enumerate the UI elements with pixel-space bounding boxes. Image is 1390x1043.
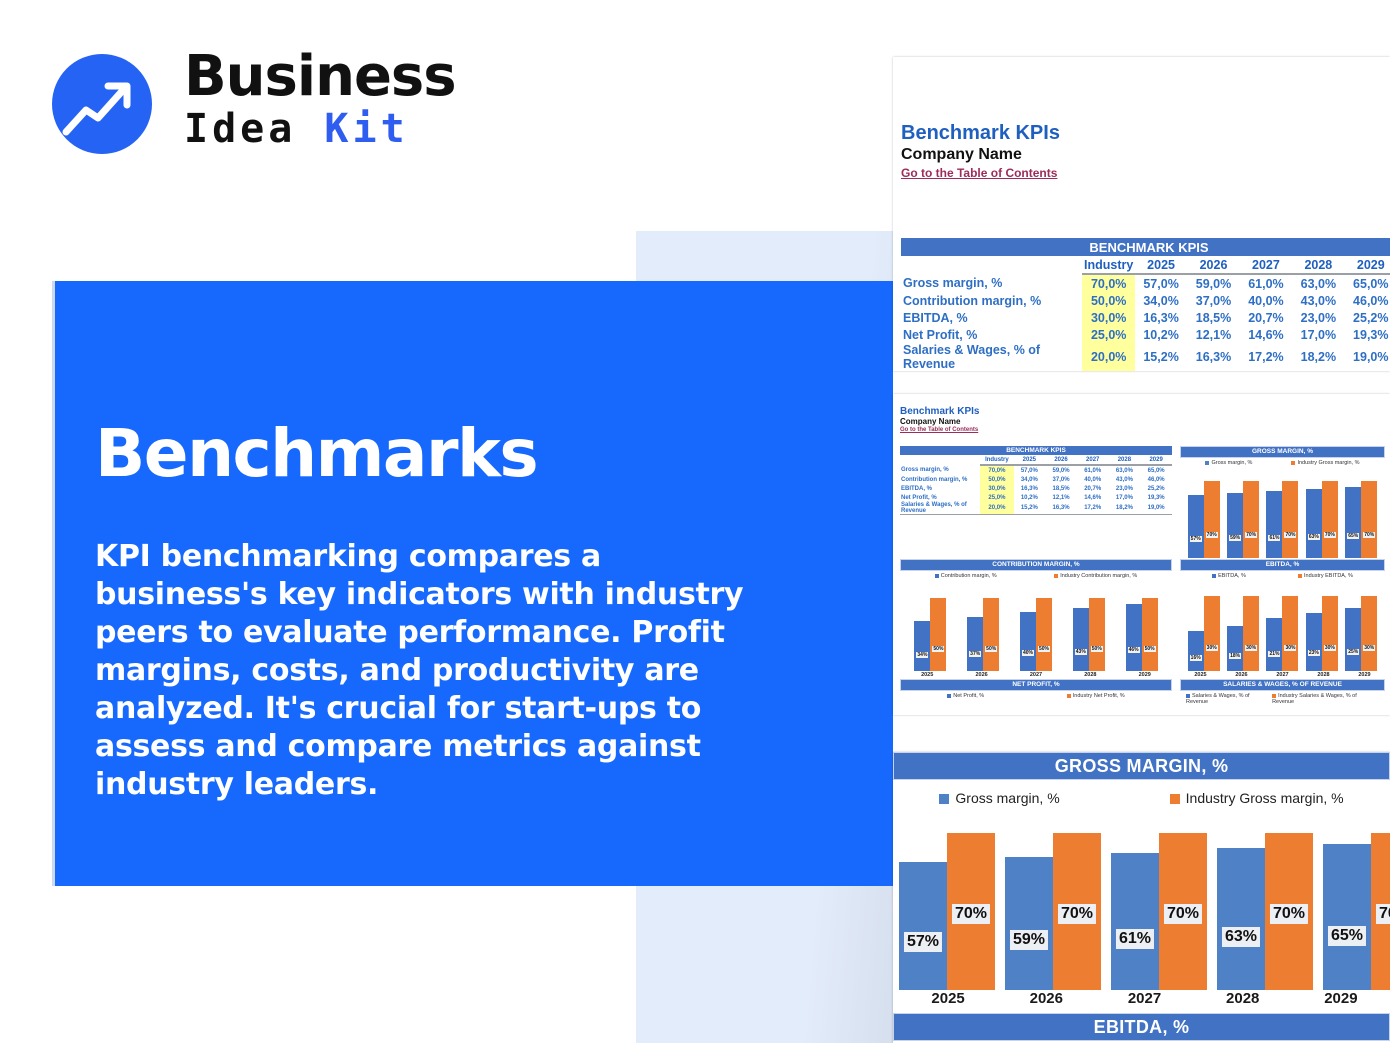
mini-chart-plot: 57%70%59%70%61%70%63%70%65%70% (1180, 466, 1385, 558)
mini-bar-group: 23%30% (1304, 583, 1339, 671)
bar-group: 65%70% (1323, 810, 1390, 990)
mini-bar-value-label: 50% (1144, 646, 1156, 652)
mini-bar-value-label: 30% (1363, 645, 1375, 651)
mini-legend-swatch (1205, 461, 1209, 465)
mini-bar-value-label: 34% (916, 652, 928, 658)
mini-bar: 18% (1227, 626, 1243, 671)
mini-chart-legend: Contribution margin, %Industry Contribut… (900, 571, 1172, 579)
mini-legend-swatch (1067, 694, 1071, 698)
mini-bar-value-label: 23% (1308, 650, 1320, 656)
mini-bar-group: 18%30% (1225, 583, 1260, 671)
chart-title-gross-margin: GROSS MARGIN, % (893, 752, 1390, 780)
mini-axis-tick: 2027 (1012, 672, 1061, 678)
mini-legend-label: Industry EBITDA, % (1304, 573, 1353, 579)
kpi-year-value: 40,0% (1240, 292, 1292, 309)
kpi-year-value: 61,0% (1240, 274, 1292, 292)
bar-value-label: 70% (1058, 904, 1096, 924)
mini-bar-value-label: 70% (1324, 532, 1336, 538)
kpi-year-value: 46,0% (1140, 475, 1172, 484)
kpi-year-value: 18,2% (1292, 343, 1344, 371)
kpi-year-value: 15,2% (1135, 343, 1187, 371)
axis-tick-label: 2028 (1194, 990, 1292, 1007)
mini-axis-tick: 2025 (903, 672, 952, 678)
mini-legend-label: Industry Gross margin, % (1297, 460, 1359, 466)
mini-legend-label: Industry Contribution margin, % (1060, 573, 1137, 579)
bar: 70% (1265, 833, 1313, 991)
mini-chart-legend: Net Profit, %Industry Net Profit, % (900, 691, 1172, 699)
kpi-industry-value: 25,0% (980, 493, 1013, 502)
mini-bar-value-label: 30% (1206, 645, 1218, 651)
kpi-row-label: Net Profit, % (901, 326, 1082, 343)
mini-bar: 57% (1188, 495, 1204, 558)
mini-legend-swatch (1272, 694, 1276, 698)
kpi-year-value: 25,2% (1345, 309, 1390, 326)
mini-bar: 37% (967, 617, 983, 671)
kpi-year-value: 16,3% (1045, 502, 1077, 515)
mini-legend-swatch (935, 574, 939, 578)
kpi-banner: BENCHMARK KPIS (901, 238, 1390, 256)
mini-bar: 70% (1204, 481, 1220, 558)
kpi-header-cell: Industry (1082, 256, 1134, 274)
spreadsheet-card-mini-dashboard: Benchmark KPIs Company Name Go to the Ta… (893, 394, 1390, 715)
kpi-row-label: Salaries & Wages, % of Revenue (901, 343, 1082, 371)
mini-chart-net-profit: NET PROFIT, %Net Profit, %Industry Net P… (900, 679, 1172, 699)
kpi-year-value: 65,0% (1345, 274, 1390, 292)
kpi-year-value: 20,7% (1240, 309, 1292, 326)
mini-bar: 30% (1282, 596, 1298, 671)
kpi-year-value: 34,0% (1014, 475, 1046, 484)
kpi-year-value: 19,0% (1345, 343, 1390, 371)
kpi-year-value: 14,6% (1077, 493, 1109, 502)
mini-bar: 50% (1036, 598, 1052, 671)
kpi-year-value: 23,0% (1292, 309, 1344, 326)
mini-legend-item: Industry EBITDA, % (1298, 573, 1353, 579)
kpi-row-label: Gross margin, % (900, 465, 980, 475)
kpi-industry-value: 25,0% (1082, 326, 1134, 343)
mini-bar-group: 16%30% (1186, 583, 1221, 671)
mini-bar-value-label: 57% (1190, 536, 1202, 542)
mini-bar-value-label: 46% (1128, 647, 1140, 653)
kpi-year-value: 40,0% (1077, 475, 1109, 484)
spreadsheet-card-kpi-table: Benchmark KPIs Company Name Go to the Ta… (893, 57, 1390, 371)
mini-axis-tick: 2029 (1120, 672, 1169, 678)
kpi-industry-value: 30,0% (1082, 309, 1134, 326)
mini-legend-label: Industry Net Profit, % (1073, 693, 1125, 699)
mini-axis-tick: 2027 (1264, 672, 1301, 678)
mini-chart-contribution-margin: CONTRIBUTION MARGIN, %Contribution margi… (900, 559, 1172, 678)
mini-bar-group: 63%70% (1304, 470, 1339, 558)
kpi-banner: BENCHMARK KPIS (900, 446, 1172, 455)
bar-group: 61%70% (1111, 810, 1207, 990)
bar-group: 63%70% (1217, 810, 1313, 990)
bar-value-label: 59% (1010, 930, 1048, 950)
kpi-header-cell: 2027 (1240, 256, 1292, 274)
mini-bar-group: 43%50% (1065, 583, 1113, 671)
mini-kpi-table-body: BENCHMARK KPISIndustry202520262027202820… (900, 446, 1172, 515)
mini-bar-value-label: 43% (1075, 649, 1087, 655)
mini-bar: 50% (983, 598, 999, 671)
kpi-year-value: 16,3% (1014, 484, 1046, 493)
mini-bar: 70% (1322, 481, 1338, 558)
kpi-year-value: 16,3% (1187, 343, 1239, 371)
mini-bar: 30% (1361, 596, 1377, 671)
logo-text-business: Business (184, 46, 456, 108)
kpi-header-cell (900, 455, 980, 465)
axis-tick-label: 2029 (1292, 990, 1390, 1007)
mini-bar-value-label: 61% (1268, 535, 1280, 541)
bar: 70% (1053, 833, 1101, 991)
mini-bar-value-label: 59% (1229, 535, 1241, 541)
kpi-row-label: Contribution margin, % (900, 475, 980, 484)
table-row: EBITDA, %30,0%16,3%18,5%20,7%23,0%25,2% (900, 484, 1172, 493)
mini-legend-item: Industry Net Profit, % (1067, 693, 1125, 699)
mini-sheet-title: Benchmark KPIs (900, 406, 979, 417)
mini-legend-item: Salaries & Wages, % of Revenue (1186, 693, 1272, 705)
mini-bar: 30% (1204, 596, 1220, 671)
kpi-row-label: Contribution margin, % (901, 292, 1082, 309)
growth-arrow-icon (52, 54, 152, 154)
bar-value-label: 65% (1328, 926, 1366, 946)
kpi-year-value: 10,2% (1014, 493, 1046, 502)
mini-chart-plot: 16%30%18%30%21%30%23%30%25%30% (1180, 579, 1385, 671)
kpi-year-value: 34,0% (1135, 292, 1187, 309)
mini-bar: 16% (1188, 631, 1204, 671)
mini-legend-swatch (947, 694, 951, 698)
kpi-row-label: Net Profit, % (900, 493, 980, 502)
kpi-year-value: 46,0% (1345, 292, 1390, 309)
mini-bar-value-label: 50% (932, 646, 944, 652)
mini-bar-group: 34%50% (907, 583, 955, 671)
mini-bar-value-label: 50% (985, 646, 997, 652)
legend-item-series2: Industry Gross margin, % (1170, 790, 1344, 806)
mini-bar-group: 46%50% (1118, 583, 1166, 671)
mini-chart-title: NET PROFIT, % (900, 679, 1172, 691)
kpi-header-cell: Industry (980, 455, 1013, 465)
mini-legend-item: EBITDA, % (1212, 573, 1246, 579)
mini-axis-tick: 2026 (1223, 672, 1260, 678)
kpi-industry-value: 50,0% (980, 475, 1013, 484)
kpi-industry-value: 70,0% (980, 465, 1013, 475)
kpi-header-cell: 2028 (1109, 455, 1141, 465)
kpi-header-cell: 2025 (1014, 455, 1046, 465)
kpi-year-value: 23,0% (1109, 484, 1141, 493)
legend-item-series1: Gross margin, % (939, 790, 1059, 806)
legend-swatch-series2 (1170, 794, 1180, 804)
bar-value-label: 61% (1116, 929, 1154, 949)
mini-legend-item: Net Profit, % (947, 693, 984, 699)
bar-value-label: 70% (952, 904, 990, 924)
mini-bar: 21% (1266, 618, 1282, 671)
mini-legend-item: Industry Contribution margin, % (1054, 573, 1137, 579)
bar-value-label: 70% (1376, 904, 1390, 924)
mini-chart-title: CONTRIBUTION MARGIN, % (900, 559, 1172, 571)
table-row: Salaries & Wages, % of Revenue20,0%15,2%… (901, 343, 1390, 371)
kpi-year-value: 20,7% (1077, 484, 1109, 493)
table-row: Salaries & Wages, % of Revenue20,0%15,2%… (900, 502, 1172, 515)
kpi-year-value: 18,5% (1045, 484, 1077, 493)
mini-bar: 34% (914, 621, 930, 671)
kpi-year-value: 14,6% (1240, 326, 1292, 343)
kpi-row-label: Gross margin, % (901, 274, 1082, 292)
kpi-header-cell: 2029 (1345, 256, 1390, 274)
mini-legend-swatch (1186, 694, 1190, 698)
mini-bar: 30% (1322, 596, 1338, 671)
bar-group: 57%70% (899, 810, 995, 990)
kpi-year-value: 18,5% (1187, 309, 1239, 326)
kpi-industry-value: 70,0% (1082, 274, 1134, 292)
mini-bar: 70% (1243, 481, 1259, 558)
kpi-row-label: Salaries & Wages, % of Revenue (900, 502, 980, 515)
mini-chart-plot: 34%50%37%50%40%50%43%50%46%50% (900, 579, 1172, 671)
mini-legend-swatch (1298, 574, 1302, 578)
kpi-year-value: 37,0% (1187, 292, 1239, 309)
mini-bar: 65% (1345, 487, 1361, 559)
kpi-year-value: 17,0% (1292, 326, 1344, 343)
mini-chart-title: GROSS MARGIN, % (1180, 446, 1385, 458)
kpi-year-value: 43,0% (1109, 475, 1141, 484)
mini-legend-label: Contribution margin, % (941, 573, 997, 579)
mini-chart-title: SALARIES & WAGES, % OF REVENUE (1180, 679, 1385, 691)
kpi-row-label: EBITDA, % (900, 484, 980, 493)
chart-title-ebitda-bottom: EBITDA, % (893, 1013, 1390, 1041)
kpi-industry-value: 20,0% (1082, 343, 1134, 371)
kpi-header-row: Industry20252026202720282029 (901, 256, 1390, 274)
mini-sheet-header: Benchmark KPIs Company Name Go to the Ta… (900, 406, 979, 434)
mini-legend-swatch (1291, 461, 1295, 465)
kpi-industry-value: 20,0% (980, 502, 1013, 515)
mini-legend-label: Gross margin, % (1211, 460, 1252, 466)
kpi-year-value: 16,3% (1135, 309, 1187, 326)
mini-bar: 40% (1020, 612, 1036, 671)
kpi-year-value: 12,1% (1045, 493, 1077, 502)
mini-bar: 23% (1306, 613, 1322, 671)
table-row: EBITDA, %30,0%16,3%18,5%20,7%23,0%25,2% (901, 309, 1390, 326)
mini-legend-item: Gross margin, % (1205, 460, 1252, 466)
legend-label-series1: Gross margin, % (955, 790, 1059, 806)
bar-value-label: 70% (1270, 904, 1308, 924)
bar: 70% (1159, 833, 1207, 991)
kpi-header-cell: 2027 (1077, 455, 1109, 465)
axis-tick-label: 2025 (899, 990, 997, 1007)
bar-value-label: 57% (904, 932, 942, 952)
mini-bar-group: 40%50% (1012, 583, 1060, 671)
mini-kpi-table: BENCHMARK KPISIndustry202520262027202820… (900, 446, 1172, 515)
bar: 61% (1111, 853, 1159, 990)
table-row: Net Profit, %25,0%10,2%12,1%14,6%17,0%19… (901, 326, 1390, 343)
mini-bar: 50% (930, 598, 946, 671)
table-row: Net Profit, %25,0%10,2%12,1%14,6%17,0%19… (900, 493, 1172, 502)
kpi-year-value: 17,0% (1109, 493, 1141, 502)
kpi-header-cell (901, 256, 1082, 274)
kpi-year-value: 37,0% (1045, 475, 1077, 484)
kpi-year-value: 19,0% (1140, 502, 1172, 515)
sheet-title: Benchmark KPIs (901, 122, 1390, 144)
mini-bar-value-label: 50% (1091, 646, 1103, 652)
kpi-header-cell: 2025 (1135, 256, 1187, 274)
mini-bar-value-label: 30% (1324, 645, 1336, 651)
mini-chart-x-axis: 20252026202720282029 (900, 671, 1172, 678)
hero-content: Benchmarks KPI benchmarking compares a b… (95, 418, 795, 804)
mini-legend-label: Salaries & Wages, % of Revenue (1186, 693, 1250, 705)
kpi-year-value: 12,1% (1187, 326, 1239, 343)
table-of-contents-link[interactable]: Go to the Table of Contents (901, 166, 1057, 180)
mini-legend-item: Industry Salaries & Wages, % of Revenue (1272, 693, 1379, 705)
kpi-header-cell: 2029 (1140, 455, 1172, 465)
mini-bar-value-label: 65% (1347, 533, 1359, 539)
mini-bar-group: 65%70% (1344, 470, 1379, 558)
chart-plot-area-gross-margin: 57%70%59%70%61%70%63%70%65%70% (893, 810, 1390, 990)
table-row: Gross margin, %70,0%57,0%59,0%61,0%63,0%… (901, 274, 1390, 292)
mini-chart-ebitda: EBITDA, %EBITDA, %Industry EBITDA, %16%3… (1180, 559, 1385, 678)
mini-bar: 70% (1361, 481, 1377, 558)
logo-text-idea: Idea (184, 106, 324, 152)
mini-legend-item: Industry Gross margin, % (1291, 460, 1359, 466)
kpi-year-value: 25,2% (1140, 484, 1172, 493)
kpi-year-value: 18,2% (1109, 502, 1141, 515)
mini-chart-x-axis: 20252026202720282029 (1180, 671, 1385, 678)
mini-bar-value-label: 70% (1206, 532, 1218, 538)
bar: 65% (1323, 844, 1371, 990)
mini-axis-tick: 2025 (1182, 672, 1219, 678)
bar: 63% (1217, 848, 1265, 990)
kpi-year-value: 43,0% (1292, 292, 1344, 309)
mini-bar: 30% (1243, 596, 1259, 671)
kpi-year-value: 19,3% (1345, 326, 1390, 343)
mini-bar-group: 57%70% (1186, 470, 1221, 558)
kpi-table-body: BENCHMARK KPISIndustry202520262027202820… (901, 238, 1390, 371)
mini-bar-value-label: 50% (1038, 646, 1050, 652)
mini-bar-value-label: 30% (1284, 645, 1296, 651)
mini-bar-value-label: 25% (1347, 649, 1359, 655)
chart-legend-gross-margin: Gross margin, % Industry Gross margin, % (893, 780, 1390, 810)
kpi-year-value: 57,0% (1014, 465, 1046, 475)
mini-chart-legend: EBITDA, %Industry EBITDA, % (1180, 571, 1385, 579)
bar: 70% (1371, 833, 1390, 991)
bar: 59% (1005, 857, 1053, 990)
mini-bar-value-label: 70% (1245, 532, 1257, 538)
kpi-year-value: 57,0% (1135, 274, 1187, 292)
mini-axis-tick: 2026 (957, 672, 1006, 678)
kpi-table: BENCHMARK KPISIndustry202520262027202820… (901, 238, 1390, 371)
mini-chart-gross-margin: GROSS MARGIN, %Gross margin, %Industry G… (1180, 446, 1385, 565)
kpi-year-value: 61,0% (1077, 465, 1109, 475)
mini-bar-value-label: 70% (1284, 532, 1296, 538)
mini-axis-tick: 2028 (1305, 672, 1342, 678)
table-row: Contribution margin, %50,0%34,0%37,0%40,… (900, 475, 1172, 484)
mini-axis-tick: 2029 (1346, 672, 1383, 678)
mini-bar: 46% (1126, 604, 1142, 671)
axis-tick-label: 2027 (1095, 990, 1193, 1007)
mini-bar-value-label: 70% (1363, 532, 1375, 538)
mini-legend-swatch (1054, 574, 1058, 578)
mini-bar: 63% (1306, 489, 1322, 558)
bar: 70% (947, 833, 995, 991)
kpi-year-value: 59,0% (1045, 465, 1077, 475)
mini-table-of-contents-link[interactable]: Go to the Table of Contents (900, 426, 979, 434)
mini-bar-value-label: 63% (1308, 534, 1320, 540)
mini-bar: 50% (1089, 598, 1105, 671)
brand-logo: Business Idea Kit (52, 46, 452, 166)
kpi-header-cell: 2026 (1187, 256, 1239, 274)
chart-x-axis-gross-margin: 20252026202720282029 (893, 990, 1390, 1007)
kpi-year-value: 19,3% (1140, 493, 1172, 502)
bar-value-label: 63% (1222, 927, 1260, 947)
mini-bar-value-label: 18% (1229, 653, 1241, 659)
sheet-company-name: Company Name (901, 146, 1390, 164)
mini-bar: 70% (1282, 481, 1298, 558)
kpi-banner-row: BENCHMARK KPIS (901, 238, 1390, 256)
logo-text-kit: Kit (324, 106, 408, 152)
bar-value-label: 70% (1164, 904, 1202, 924)
kpi-banner-row: BENCHMARK KPIS (900, 446, 1172, 455)
kpi-row-label: EBITDA, % (901, 309, 1082, 326)
kpi-year-value: 17,2% (1240, 343, 1292, 371)
kpi-header-cell: 2028 (1292, 256, 1344, 274)
mini-bar: 59% (1227, 493, 1243, 558)
mini-legend-label: EBITDA, % (1218, 573, 1246, 579)
mini-bar-value-label: 37% (969, 651, 981, 657)
mini-bar-group: 25%30% (1344, 583, 1379, 671)
kpi-header-cell: 2026 (1045, 455, 1077, 465)
mini-sheet-company-name: Company Name (900, 417, 979, 426)
kpi-year-value: 10,2% (1135, 326, 1187, 343)
kpi-year-value: 15,2% (1014, 502, 1046, 515)
kpi-industry-value: 50,0% (1082, 292, 1134, 309)
mini-chart-title: EBITDA, % (1180, 559, 1385, 571)
legend-label-series2: Industry Gross margin, % (1186, 790, 1344, 806)
mini-legend-label: Net Profit, % (953, 693, 984, 699)
chart-card-gross-margin: GROSS MARGIN, % Gross margin, % Industry… (893, 752, 1390, 1043)
mini-bar-value-label: 40% (1022, 650, 1034, 656)
legend-swatch-series1 (939, 794, 949, 804)
mini-axis-tick: 2028 (1066, 672, 1115, 678)
bar-group: 59%70% (1005, 810, 1101, 990)
mini-chart-legend: Salaries & Wages, % of RevenueIndustry S… (1180, 691, 1385, 705)
mini-bar-value-label: 21% (1268, 651, 1280, 657)
mini-bar-value-label: 16% (1190, 655, 1202, 661)
mini-bar: 61% (1266, 491, 1282, 558)
mini-bar-value-label: 30% (1245, 645, 1257, 651)
table-row: Contribution margin, %50,0%34,0%37,0%40,… (901, 292, 1390, 309)
kpi-year-value: 17,2% (1077, 502, 1109, 515)
mini-bar: 25% (1345, 608, 1361, 671)
page-title: Benchmarks (95, 418, 795, 490)
bar: 57% (899, 862, 947, 990)
mini-bar-group: 59%70% (1225, 470, 1260, 558)
mini-bar: 43% (1073, 608, 1089, 671)
mini-bar-group: 37%50% (959, 583, 1007, 671)
mini-legend-item: Contribution margin, % (935, 573, 997, 579)
kpi-industry-value: 30,0% (980, 484, 1013, 493)
kpi-year-value: 65,0% (1140, 465, 1172, 475)
kpi-year-value: 59,0% (1187, 274, 1239, 292)
kpi-header-row: Industry20252026202720282029 (900, 455, 1172, 465)
mini-chart-salaries-wages: SALARIES & WAGES, % OF REVENUESalaries &… (1180, 679, 1385, 705)
kpi-year-value: 63,0% (1109, 465, 1141, 475)
mini-bar-group: 21%30% (1265, 583, 1300, 671)
mini-bar-group: 61%70% (1265, 470, 1300, 558)
kpi-year-value: 63,0% (1292, 274, 1344, 292)
mini-bar: 50% (1142, 598, 1158, 671)
table-row: Gross margin, %70,0%57,0%59,0%61,0%63,0%… (900, 465, 1172, 475)
hero-description: KPI benchmarking compares a business's k… (95, 538, 765, 804)
mini-chart-legend: Gross margin, %Industry Gross margin, % (1180, 458, 1385, 466)
axis-tick-label: 2026 (997, 990, 1095, 1007)
mini-legend-swatch (1212, 574, 1216, 578)
mini-legend-label: Industry Salaries & Wages, % of Revenue (1272, 693, 1357, 705)
